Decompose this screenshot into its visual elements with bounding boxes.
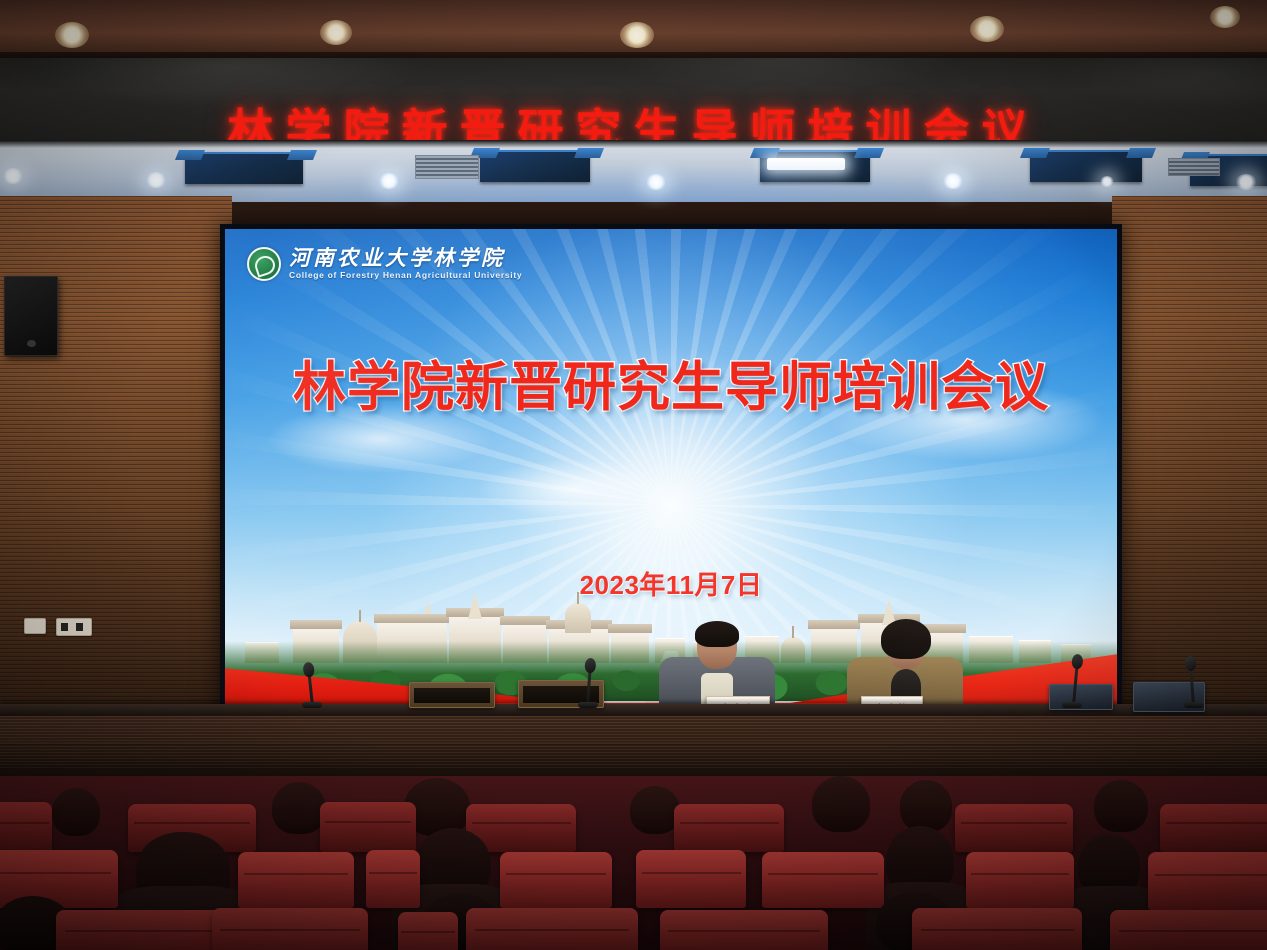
head-table-front-panel bbox=[0, 716, 1267, 778]
attendee-head bbox=[1094, 780, 1148, 832]
slide-date: 2023年11月7日 bbox=[225, 572, 1117, 598]
auditorium-seat[interactable] bbox=[966, 852, 1074, 908]
auditorium-seat[interactable] bbox=[398, 912, 458, 950]
downlight-icon bbox=[1100, 176, 1114, 187]
table-monitor-left bbox=[409, 682, 495, 708]
speaker-left-hair bbox=[695, 621, 739, 647]
auditorium-seat[interactable] bbox=[912, 908, 1082, 950]
auditorium-seat[interactable] bbox=[636, 850, 746, 908]
forestry-emblem-icon bbox=[247, 247, 281, 281]
cloud bbox=[475, 459, 675, 519]
auditorium-seat[interactable] bbox=[56, 910, 236, 950]
ventilation-grille bbox=[415, 155, 479, 179]
microphone-base-3 bbox=[1062, 702, 1082, 708]
attendee-head bbox=[900, 780, 952, 832]
auditorium-seat[interactable] bbox=[0, 802, 52, 854]
led-banner-panel: 林学院新晋研究生导师培训会议 bbox=[0, 58, 1267, 140]
attendee-head bbox=[630, 786, 680, 834]
auditorium-seat[interactable] bbox=[366, 850, 420, 908]
slide-title: 林学院新晋研究生导师培训会议 bbox=[225, 361, 1117, 414]
ceiling-spotlight-icon bbox=[55, 22, 89, 48]
microphone-base-4 bbox=[1184, 702, 1204, 708]
ceiling-spotlight-icon bbox=[620, 22, 654, 48]
auditorium-seat[interactable] bbox=[660, 910, 828, 950]
auditorium-seat[interactable] bbox=[500, 852, 612, 908]
ceiling-spotlight-icon bbox=[1210, 6, 1240, 28]
attendee-head bbox=[272, 782, 326, 834]
attendee-head bbox=[52, 788, 100, 836]
projection-screen[interactable]: 河南农业大学林学院 College of Forestry Henan Agri… bbox=[220, 224, 1122, 726]
microphone-base-2 bbox=[578, 702, 598, 708]
air-vent bbox=[480, 150, 590, 182]
speaker-right-hair bbox=[881, 619, 931, 659]
air-vent bbox=[185, 152, 303, 184]
ceiling-spotlight-icon bbox=[970, 16, 1004, 42]
ceiling-spotlight-icon bbox=[320, 20, 352, 45]
downlight-icon bbox=[645, 174, 667, 190]
auditorium-seat[interactable] bbox=[212, 908, 368, 950]
audience-seating bbox=[0, 776, 1267, 950]
university-logo: 河南农业大学林学院 College of Forestry Henan Agri… bbox=[247, 247, 522, 281]
auditorium-seat[interactable] bbox=[674, 804, 784, 852]
campus-dome bbox=[565, 603, 591, 633]
attendee-head bbox=[812, 776, 870, 832]
auditorium-seat[interactable] bbox=[1148, 852, 1267, 910]
downlight-icon bbox=[145, 172, 167, 188]
tube-light-icon bbox=[767, 158, 845, 170]
auditorium-seat[interactable] bbox=[1110, 910, 1267, 950]
auditorium-seat[interactable] bbox=[955, 804, 1073, 852]
auditorium-seat[interactable] bbox=[762, 852, 884, 908]
wall-speaker-icon bbox=[4, 276, 58, 356]
auditorium-seat[interactable] bbox=[238, 852, 354, 908]
soffit-shadow bbox=[0, 140, 1267, 148]
auditorium-seat[interactable] bbox=[466, 908, 638, 950]
auditorium-seat[interactable] bbox=[1160, 804, 1267, 852]
power-outlet-plate[interactable] bbox=[56, 618, 92, 636]
air-vent bbox=[1030, 150, 1142, 182]
logo-chinese-name: 河南农业大学林学院 bbox=[289, 247, 522, 268]
power-outlet-plate[interactable] bbox=[24, 618, 46, 634]
ventilation-grille bbox=[1168, 158, 1220, 176]
presentation-slide: 河南农业大学林学院 College of Forestry Henan Agri… bbox=[225, 229, 1117, 721]
microphone-base-1 bbox=[302, 702, 322, 708]
logo-english-name: College of Forestry Henan Agricultural U… bbox=[289, 271, 522, 280]
downlight-icon bbox=[378, 173, 400, 189]
led-banner-text: 林学院新晋研究生导师培训会议 bbox=[0, 108, 1267, 140]
conference-photo-scene: 林学院新晋研究生导师培训会议 bbox=[0, 0, 1267, 950]
downlight-icon bbox=[942, 173, 964, 189]
downlight-icon bbox=[2, 168, 24, 184]
auditorium-seat[interactable] bbox=[320, 802, 416, 852]
downlight-icon bbox=[1235, 174, 1257, 190]
